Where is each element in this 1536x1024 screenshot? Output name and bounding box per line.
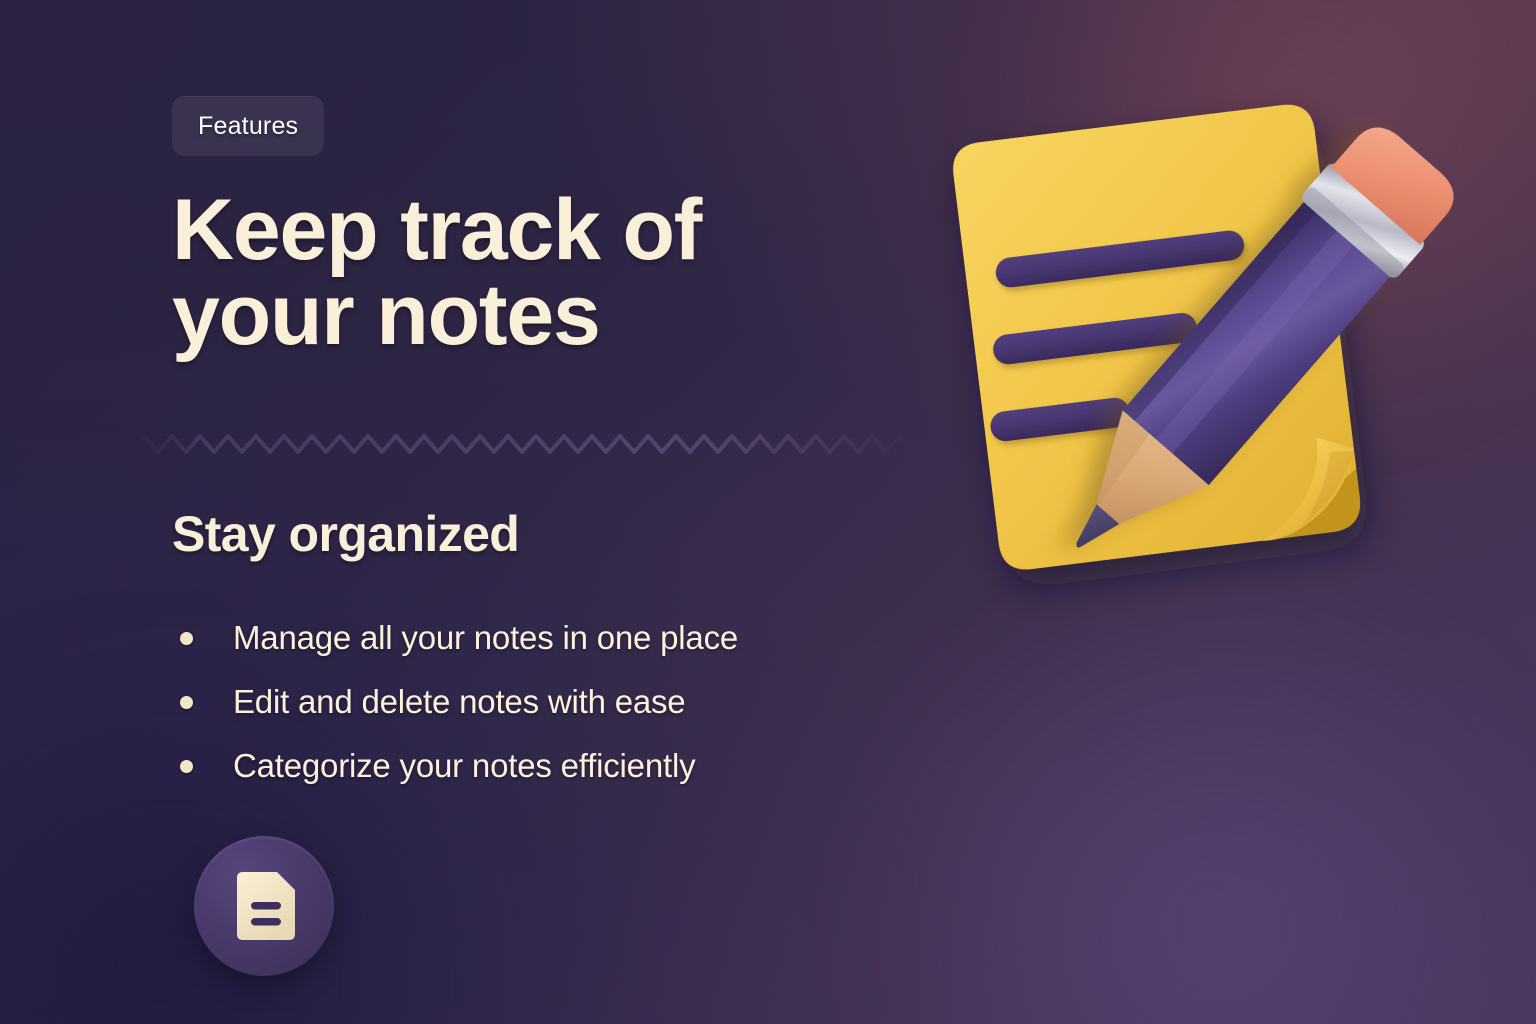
document-badge[interactable] [194, 836, 334, 976]
list-item: Manage all your notes in one place [180, 606, 738, 670]
features-badge[interactable]: Features [172, 96, 324, 156]
bullet-dot-icon [180, 760, 193, 773]
page-title-line-2: your notes [172, 273, 872, 358]
section-title: Stay organized [172, 505, 519, 563]
features-badge-label: Features [198, 112, 298, 141]
list-item: Categorize your notes efficiently [180, 734, 738, 798]
page-title-line-1: Keep track of [172, 182, 701, 278]
feature-list: Manage all your notes in one place Edit … [180, 606, 738, 798]
zigzag-divider [130, 428, 930, 462]
poster-canvas: Features Keep track of your notes Stay o… [0, 0, 1536, 1024]
list-item: Edit and delete notes with ease [180, 670, 738, 734]
list-item-label: Categorize your notes efficiently [233, 747, 695, 785]
list-item-label: Manage all your notes in one place [233, 619, 738, 657]
bullet-dot-icon [180, 696, 193, 709]
content-column: Features Keep track of your notes Stay o… [172, 0, 932, 1024]
document-icon [231, 870, 297, 942]
bullet-dot-icon [180, 632, 193, 645]
page-title: Keep track of your notes [172, 188, 872, 358]
list-item-label: Edit and delete notes with ease [233, 683, 685, 721]
note-pencil-illustration [860, 100, 1480, 660]
